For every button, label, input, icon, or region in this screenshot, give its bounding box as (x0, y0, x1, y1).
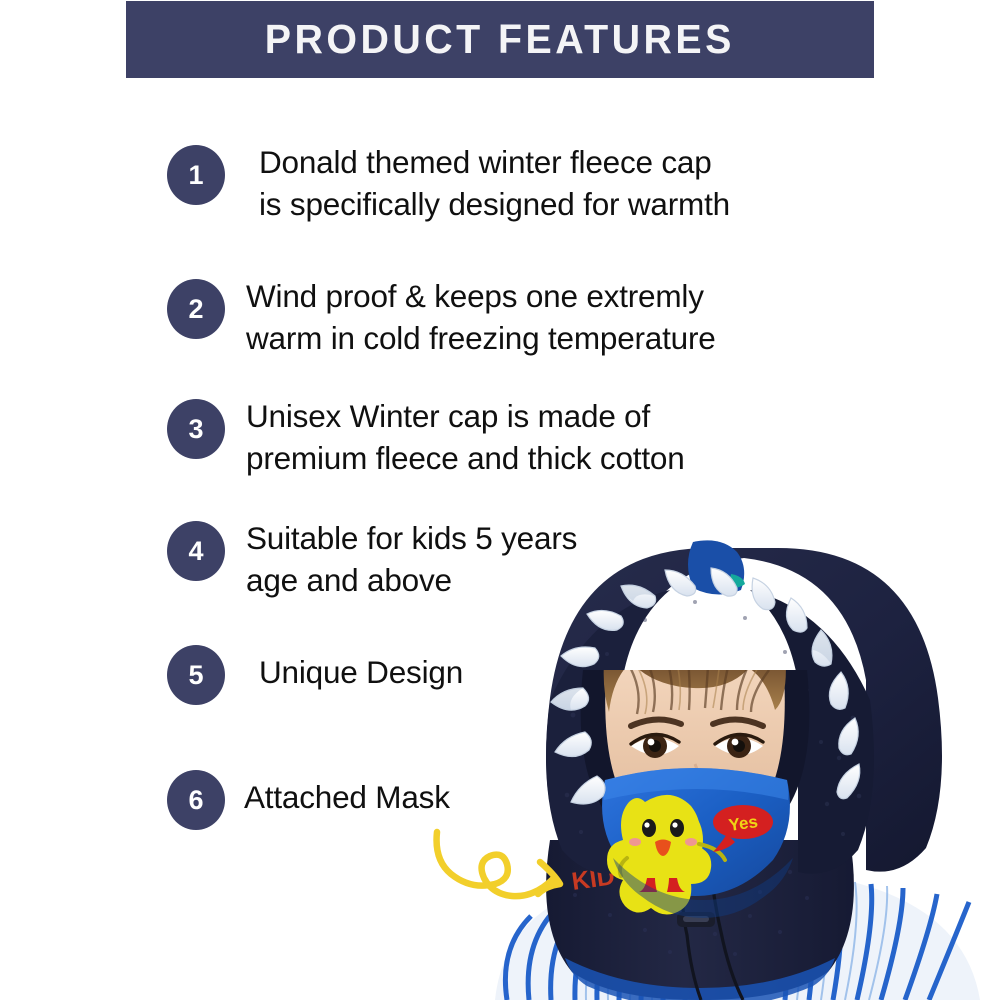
feature-number-badge-3: 3 (167, 399, 225, 459)
product-photo-child-wearing-fleece-cap: KID (455, 540, 1000, 1000)
feature-number-badge-6: 6 (167, 770, 225, 830)
feature-text-3: Unisex Winter cap is made of premium fle… (246, 395, 685, 479)
feature-item-2: 2 Wind proof & keeps one extremly warm i… (167, 279, 716, 359)
feature-number-badge-5: 5 (167, 645, 225, 705)
feature-item-1: 1 Donald themed winter fleece cap is spe… (167, 145, 730, 225)
feature-text-2: Wind proof & keeps one extremly warm in … (246, 275, 716, 359)
feature-number-badge-4: 4 (167, 521, 225, 581)
yes-bubble-text: Yes (727, 812, 759, 835)
feature-item-5: 5 Unique Design (167, 645, 463, 705)
feature-item-6: 6 Attached Mask (167, 770, 450, 830)
feature-text-5: Unique Design (259, 651, 463, 693)
feature-number-badge-2: 2 (167, 279, 225, 339)
feature-text-1: Donald themed winter fleece cap is speci… (259, 141, 730, 225)
attached-face-mask: Yes (602, 768, 793, 918)
feature-number-badge-1: 1 (167, 145, 225, 205)
feature-item-3: 3 Unisex Winter cap is made of premium f… (167, 399, 685, 479)
feature-text-6: Attached Mask (244, 776, 450, 818)
